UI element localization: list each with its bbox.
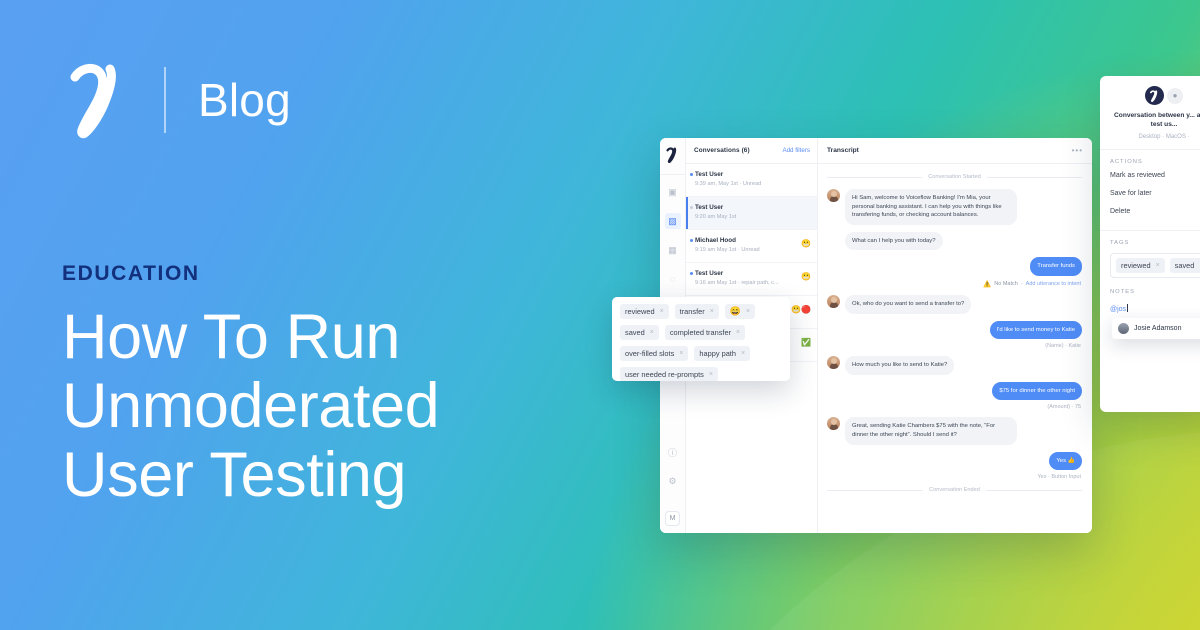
message-bubble: $75 for dinner the other night bbox=[992, 382, 1082, 401]
close-x-icon[interactable]: × bbox=[660, 308, 664, 315]
message-entity-note: (Amount) · 75 bbox=[827, 404, 1081, 410]
message-bubble: Great, sending Katie Chambers $75 with t… bbox=[845, 417, 1017, 444]
conversation-user-name: Michael Hood bbox=[695, 237, 810, 244]
details-notes-section: NOTES @jos Josie Adamson bbox=[1100, 280, 1200, 341]
conversation-ended-divider: Conversation Ended bbox=[827, 487, 1082, 493]
message-bubble: Ok, who do you want to send a transfer t… bbox=[845, 295, 971, 314]
tag-chip-label: 😄 bbox=[730, 306, 741, 317]
conversation-status-badge: 😬 bbox=[801, 273, 811, 281]
details-header: ● Conversation between y... and a test u… bbox=[1100, 76, 1200, 150]
detail-tag-label: reviewed bbox=[1121, 261, 1151, 270]
mention-name: Josie Adamson bbox=[1134, 325, 1181, 332]
no-match-label: No Match bbox=[994, 281, 1018, 287]
brand-word: Blog bbox=[198, 73, 291, 127]
transcript-body: Conversation Started Hi Sam, welcome to … bbox=[818, 164, 1092, 533]
bot-avatar bbox=[827, 295, 840, 308]
conversation-list-item[interactable]: Test User9:20 am May 1st bbox=[686, 197, 817, 230]
add-filters-button[interactable]: Add filters bbox=[782, 147, 810, 154]
conversation-meta: 9:16 am May 1st · repair path, c... bbox=[695, 280, 810, 286]
conversation-status-badge: ✅ bbox=[801, 339, 811, 347]
close-x-icon[interactable]: × bbox=[710, 308, 714, 315]
conversations-icon[interactable]: ▨ bbox=[665, 213, 681, 229]
tags-input[interactable]: reviewed×saved× bbox=[1110, 253, 1200, 278]
tag-row: user needed re-prompts× bbox=[620, 367, 782, 381]
conversation-ended-label: Conversation Ended bbox=[929, 487, 980, 493]
transcript-bot-message: Great, sending Katie Chambers $75 with t… bbox=[827, 417, 1082, 444]
actions-label: ACTIONS bbox=[1110, 159, 1200, 165]
close-x-icon[interactable]: × bbox=[736, 329, 740, 336]
transcript-bot-message: Hi Sam, welcome to Voiceflow Banking! I'… bbox=[827, 189, 1082, 225]
rail-voiceflow-logo-icon bbox=[662, 144, 684, 166]
details-title: Conversation between y... and a test us.… bbox=[1110, 111, 1200, 129]
conversations-header: Conversations (6) Add filters bbox=[686, 138, 817, 164]
tag-chip-label: saved bbox=[625, 328, 645, 337]
unread-dot bbox=[690, 173, 693, 176]
warning-icon: ⚠️ bbox=[983, 280, 991, 288]
action-item[interactable]: Mark as reviewed bbox=[1110, 172, 1200, 179]
conversation-user-name: Test User bbox=[695, 171, 810, 178]
dashboard-grid-icon[interactable]: ▦ bbox=[665, 242, 681, 258]
close-x-icon[interactable]: × bbox=[709, 371, 713, 378]
conversation-list-item[interactable]: Test User9:16 am May 1st · repair path, … bbox=[686, 263, 817, 296]
unread-dot bbox=[690, 206, 693, 209]
conversation-status-badge: 😬🔴 bbox=[791, 306, 811, 314]
category-eyebrow: EDUCATION bbox=[62, 262, 439, 286]
settings-gear-icon[interactable]: ⚙ bbox=[665, 473, 681, 489]
message-bubble: Yes 👍 bbox=[1049, 452, 1082, 471]
brand-lockup: Blog bbox=[62, 54, 439, 146]
tags-label: TAGS bbox=[1110, 240, 1200, 246]
info-icon[interactable]: ⓘ bbox=[665, 444, 681, 460]
close-x-icon[interactable]: × bbox=[1156, 262, 1160, 269]
details-subtitle: Desktop · MacOS · bbox=[1110, 134, 1200, 140]
transcript-user-message: $75 for dinner the other night bbox=[827, 382, 1082, 401]
close-x-icon[interactable]: × bbox=[741, 350, 745, 357]
tag-chip-label: over-filled slots bbox=[625, 349, 674, 358]
tag-chip[interactable]: happy path× bbox=[694, 346, 750, 361]
transcript-panel: Transcript ••• Conversation Started Hi S… bbox=[818, 138, 1092, 533]
headline-line-1: How To Run bbox=[62, 303, 439, 372]
ellipsis-icon[interactable]: ••• bbox=[1072, 146, 1083, 155]
tag-row: saved×completed transfer× bbox=[620, 325, 782, 340]
transcript-bot-message: Ok, who do you want to send a transfer t… bbox=[827, 295, 1082, 314]
voiceflow-script-v-logo-icon bbox=[62, 61, 136, 139]
tag-chip-label: transfer bbox=[680, 307, 705, 316]
conversation-user-name: Test User bbox=[695, 204, 810, 211]
close-x-icon[interactable]: × bbox=[679, 350, 683, 357]
message-bubble: Transfer funds bbox=[1030, 257, 1082, 276]
tag-chip[interactable]: reviewed× bbox=[620, 304, 669, 319]
message-bubble: I'd like to send money to Katie bbox=[990, 321, 1082, 340]
no-match-annotation: ⚠️No Match·Add utterance to intent bbox=[827, 280, 1081, 288]
bot-avatar bbox=[827, 417, 840, 430]
transcript-bot-message: What can I help you with today? bbox=[827, 232, 1082, 251]
detail-tag-chip[interactable]: reviewed× bbox=[1116, 258, 1165, 273]
conversation-status-badge: 😬 bbox=[801, 240, 811, 248]
mention-avatar bbox=[1118, 323, 1129, 334]
transcript-header: Transcript ••• bbox=[818, 138, 1092, 164]
hero-block: Blog EDUCATION How To Run Unmoderated Us… bbox=[62, 54, 439, 510]
page-title: How To Run Unmoderated User Testing bbox=[62, 303, 439, 510]
tag-chip-label: completed transfer bbox=[670, 328, 731, 337]
detail-tag-label: saved bbox=[1175, 261, 1195, 270]
action-item[interactable]: Delete bbox=[1110, 208, 1200, 215]
unread-dot bbox=[690, 239, 693, 242]
tag-rows: reviewed×transfer×😄×saved×completed tran… bbox=[620, 304, 782, 381]
tag-chip-label: happy path bbox=[699, 349, 736, 358]
voiceflow-logo-icon bbox=[1145, 86, 1164, 105]
notes-value: @jos bbox=[1110, 306, 1126, 313]
conversation-list-item[interactable]: Michael Hood9:19 am May 1st · Unread😬 bbox=[686, 230, 817, 263]
tag-chip[interactable]: completed transfer× bbox=[665, 325, 745, 340]
conversation-user-name: Test User bbox=[695, 270, 810, 277]
conversation-started-label: Conversation Started bbox=[928, 174, 981, 180]
tag-row: over-filled slots×happy path× bbox=[620, 346, 782, 361]
inbox-icon[interactable]: ▣ bbox=[665, 184, 681, 200]
message-entity-note: Yes · Button Input bbox=[827, 474, 1081, 480]
message-entity-note: (Name) · Katie bbox=[827, 343, 1081, 349]
tags-popover: reviewed×transfer×😄×saved×completed tran… bbox=[612, 297, 790, 381]
transcript-title: Transcript bbox=[827, 147, 859, 154]
rail-avatar[interactable]: M bbox=[665, 511, 680, 526]
message-bubble: How much you like to send to Katie? bbox=[845, 356, 954, 375]
details-actions-section: ACTIONS Mark as reviewedSave for laterDe… bbox=[1100, 150, 1200, 228]
headline-line-2: Unmoderated bbox=[62, 372, 439, 441]
tag-chip-label: reviewed bbox=[625, 307, 655, 316]
tag-chip[interactable]: transfer× bbox=[675, 304, 719, 319]
conversation-meta: 9:19 am May 1st · Unread bbox=[695, 247, 810, 253]
conversation-details-panel: ● Conversation between y... and a test u… bbox=[1100, 76, 1200, 412]
transcript-user-message: I'd like to send money to Katie bbox=[827, 321, 1082, 340]
action-item[interactable]: Save for later bbox=[1110, 190, 1200, 197]
add-utterance-link[interactable]: Add utterance to intent bbox=[1026, 281, 1081, 287]
details-tags-section: TAGS reviewed×saved× bbox=[1100, 231, 1200, 280]
message-bubble: What can I help you with today? bbox=[845, 232, 943, 251]
close-x-icon[interactable]: × bbox=[746, 308, 750, 315]
headline-line-3: User Testing bbox=[62, 441, 439, 510]
bot-avatar bbox=[827, 189, 840, 202]
person-avatar-icon: ● bbox=[1167, 88, 1183, 104]
conversation-meta: 9:20 am May 1st bbox=[695, 214, 810, 220]
tag-chip[interactable]: 😄× bbox=[725, 304, 755, 319]
close-x-icon[interactable]: × bbox=[650, 329, 654, 336]
conversation-started-divider: Conversation Started bbox=[827, 174, 1082, 180]
unread-dot bbox=[690, 272, 693, 275]
conversation-meta: 9:39 am, May 1st · Unread bbox=[695, 181, 810, 187]
notes-label: NOTES bbox=[1110, 289, 1200, 295]
detail-tag-chip[interactable]: saved× bbox=[1170, 258, 1200, 273]
tag-chip[interactable]: saved× bbox=[620, 325, 659, 340]
mention-suggestion-item[interactable]: Josie Adamson bbox=[1112, 318, 1200, 339]
tag-chip[interactable]: over-filled slots× bbox=[620, 346, 688, 361]
tag-row: reviewed×transfer×😄× bbox=[620, 304, 782, 319]
message-bubble: Hi Sam, welcome to Voiceflow Banking! I'… bbox=[845, 189, 1017, 225]
notes-input[interactable]: @jos bbox=[1110, 302, 1200, 313]
cloud-icon[interactable]: ◌ bbox=[665, 271, 681, 287]
details-avatars: ● bbox=[1110, 86, 1200, 105]
transcript-bot-message: How much you like to send to Katie? bbox=[827, 356, 1082, 375]
bot-avatar bbox=[827, 356, 840, 369]
transcript-user-message: Yes 👍 bbox=[827, 452, 1082, 471]
transcript-user-message: Transfer funds bbox=[827, 257, 1082, 276]
conversations-title: Conversations (6) bbox=[694, 147, 750, 154]
transcript-messages: Hi Sam, welcome to Voiceflow Banking! I'… bbox=[827, 189, 1082, 480]
tag-chip-label: user needed re-prompts bbox=[625, 370, 704, 379]
actions-list: Mark as reviewedSave for laterDelete bbox=[1110, 172, 1200, 215]
rail-divider bbox=[660, 174, 685, 175]
text-caret bbox=[1127, 304, 1128, 312]
conversation-list-item[interactable]: Test User9:39 am, May 1st · Unread bbox=[686, 164, 817, 197]
tag-chip[interactable]: user needed re-prompts× bbox=[620, 367, 718, 381]
brand-divider bbox=[164, 67, 166, 133]
